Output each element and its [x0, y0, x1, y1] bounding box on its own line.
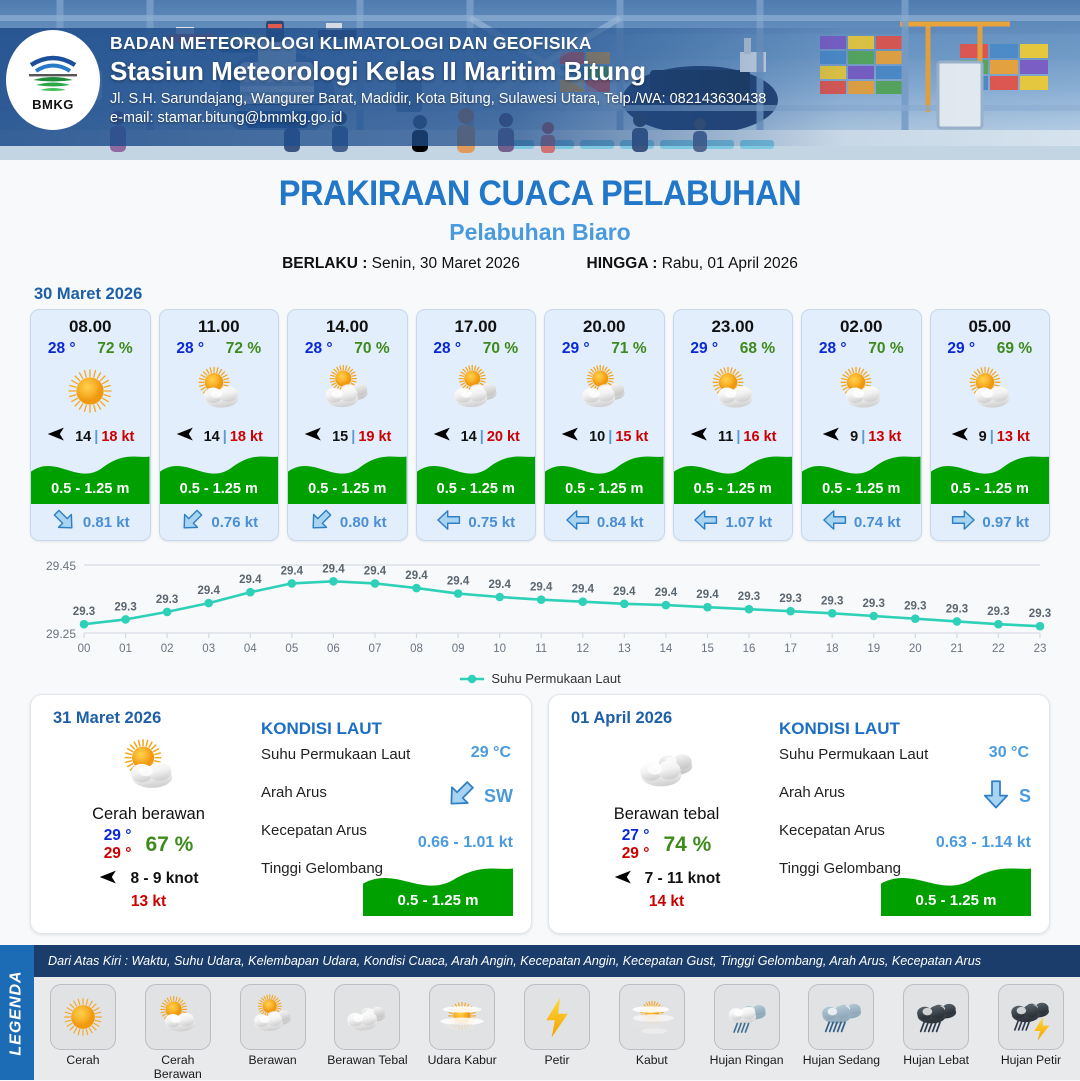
card-temperature: 28 °: [433, 340, 461, 358]
card-current: 0.81 kt: [31, 504, 150, 540]
legend-item: Cerah Berawan: [137, 984, 219, 1080]
panel-condition: Cerah berawan: [41, 805, 256, 824]
current-direction-label: Arah Arus: [261, 784, 327, 801]
panel-gust: 13 kt: [41, 893, 256, 911]
card-temp-humidity: 28 ° 70 %: [417, 337, 536, 358]
card-wind-separator: |: [990, 429, 994, 445]
card-current-speed: 0.74 kt: [854, 514, 901, 531]
svg-text:29.4: 29.4: [239, 574, 262, 586]
panel-humidity: 67 %: [145, 833, 193, 857]
hourly-card: 08.00 28 ° 72 % 14 | 18 kt 0.5 - 1.25: [30, 309, 151, 541]
wind-direction-arrow-icon: [46, 426, 72, 447]
daily-forecast-panels: 31 Maret 2026 Cerah berawan 29 ° 29 ° 6: [0, 686, 1080, 934]
card-gust: 20 kt: [487, 429, 520, 445]
wave-graphic: 0.5 - 1.25 m: [881, 864, 1031, 916]
sea-row-current-speed: Kecepatan Arus 0.63 - 1.14 kt: [779, 820, 1035, 858]
card-temperature: 29 °: [562, 340, 590, 358]
card-weather-berawan-icon: [288, 358, 407, 424]
wind-direction-arrow-icon: [821, 426, 847, 447]
panel-temps: 27 ° 29 ° 74 %: [559, 827, 774, 863]
card-humidity: 70 %: [868, 340, 903, 358]
card-current: 0.97 kt: [931, 504, 1050, 540]
wave-value: 0.5 - 1.25 m: [881, 892, 1031, 909]
svg-text:01: 01: [119, 643, 132, 655]
card-weather-cerah-berawan-icon: [931, 358, 1050, 424]
panel-wind: 8 - 9 knot: [41, 869, 256, 890]
card-current: 0.76 kt: [160, 504, 279, 540]
svg-text:18: 18: [826, 643, 839, 655]
current-direction-arrow-icon: [950, 507, 976, 538]
legend-area: LEGENDA Dari Atas Kiri : Waktu, Suhu Uda…: [0, 945, 1080, 1080]
card-temperature: 29 °: [947, 340, 975, 358]
card-wave: 0.5 - 1.25 m: [417, 450, 536, 504]
legend-note: Dari Atas Kiri : Waktu, Suhu Udara, Kele…: [34, 945, 1080, 977]
sea-row-wave: Tinggi Gelombang 0.5 - 1.25 m: [779, 858, 1035, 896]
panel-summary: Berawan tebal 27 ° 29 ° 74 % 7 - 11 knot…: [559, 737, 774, 911]
card-current: 0.75 kt: [417, 504, 536, 540]
svg-text:09: 09: [452, 643, 465, 655]
page-header: BMKG BADAN METEOROLOGI KLIMATOLOGI DAN G…: [0, 0, 1080, 160]
svg-text:29.4: 29.4: [447, 576, 470, 588]
wind-direction-arrow-icon: [98, 869, 124, 890]
card-time: 23.00: [674, 310, 793, 337]
sst-chart: 29.4529.25000102030405060708091011121314…: [28, 551, 1052, 669]
chart-legend: Suhu Permukaan Laut: [0, 671, 1080, 686]
card-wave: 0.5 - 1.25 m: [288, 450, 407, 504]
card-temp-humidity: 29 ° 69 %: [931, 337, 1050, 358]
card-current: 0.74 kt: [802, 504, 921, 540]
card-gust: 13 kt: [997, 429, 1030, 445]
card-humidity: 72 %: [226, 340, 261, 358]
card-current-speed: 0.97 kt: [982, 514, 1029, 531]
bmkg-logo-text: BMKG: [32, 97, 74, 112]
legend-item: Berawan: [232, 984, 314, 1080]
current-direction-value-group: S: [980, 778, 1031, 815]
card-current-speed: 0.81 kt: [83, 514, 130, 531]
legend-tab-text: LEGENDA: [8, 970, 26, 1055]
legend-items: Cerah Cerah Berawan: [34, 977, 1080, 1080]
card-temp-humidity: 28 ° 70 %: [802, 337, 921, 358]
card-wave: 0.5 - 1.25 m: [931, 450, 1050, 504]
card-wave-height: 0.5 - 1.25 m: [674, 481, 793, 497]
svg-text:13: 13: [618, 643, 631, 655]
legend-tab: LEGENDA: [0, 945, 34, 1080]
title-block: PRAKIRAAN CUACA PELABUHAN Pelabuhan Biar…: [0, 160, 1080, 273]
current-direction-arrow-icon: [51, 507, 77, 538]
svg-text:08: 08: [410, 643, 423, 655]
card-current-speed: 0.76 kt: [211, 514, 258, 531]
wave-graphic: 0.5 - 1.25 m: [363, 864, 513, 916]
svg-text:29.3: 29.3: [987, 606, 1009, 618]
panel-temps: 29 ° 29 ° 67 %: [41, 827, 256, 863]
svg-text:29.3: 29.3: [156, 594, 178, 606]
card-wave-height: 0.5 - 1.25 m: [288, 481, 407, 497]
card-wind: 14 | 18 kt: [31, 424, 150, 450]
card-wave-height: 0.5 - 1.25 m: [31, 481, 150, 497]
card-time: 02.00: [802, 310, 921, 337]
card-gust: 18 kt: [230, 429, 263, 445]
sst-label: Suhu Permukaan Laut: [261, 746, 410, 763]
legend-item-label: Kabut: [611, 1053, 693, 1067]
card-wave: 0.5 - 1.25 m: [31, 450, 150, 504]
panel-sea-conditions: KONDISI LAUT Suhu Permukaan Laut 29 °C A…: [261, 719, 517, 896]
card-temp-humidity: 29 ° 71 %: [545, 337, 664, 358]
card-wave: 0.5 - 1.25 m: [802, 450, 921, 504]
chart-legend-label: Suhu Permukaan Laut: [491, 671, 620, 686]
legend-item: Petir: [516, 984, 598, 1080]
legend-item-label: Hujan Sedang: [800, 1053, 882, 1067]
current-direction-label: Arah Arus: [779, 784, 845, 801]
card-current-speed: 1.07 kt: [725, 514, 772, 531]
current-speed-label: Kecepatan Arus: [261, 822, 367, 839]
current-direction-arrow-icon: [436, 507, 462, 538]
svg-text:29.4: 29.4: [572, 584, 595, 596]
svg-text:29.3: 29.3: [946, 604, 968, 616]
card-wind-speed: 11: [718, 429, 733, 445]
legend-item-label: Petir: [516, 1053, 598, 1067]
card-wave-height: 0.5 - 1.25 m: [931, 481, 1050, 497]
svg-text:29.4: 29.4: [322, 563, 345, 575]
panel-weather-cerah-berawan-icon: [41, 737, 256, 799]
svg-text:17: 17: [784, 643, 797, 655]
legend-berawan-tebal-icon: [334, 984, 400, 1050]
current-direction-arrow-icon: [445, 778, 477, 815]
card-current-speed: 0.84 kt: [597, 514, 644, 531]
svg-text:29.4: 29.4: [613, 586, 636, 598]
svg-text:19: 19: [867, 643, 880, 655]
card-weather-cerah-berawan-icon: [674, 358, 793, 424]
card-humidity: 71 %: [611, 340, 646, 358]
card-wind-separator: |: [736, 429, 740, 445]
card-current: 1.07 kt: [674, 504, 793, 540]
legend-cerah-icon: [50, 984, 116, 1050]
card-wind-separator: |: [351, 429, 355, 445]
panel-humidity: 74 %: [663, 833, 711, 857]
card-current: 0.80 kt: [288, 504, 407, 540]
sea-row-current-direction: Arah Arus SW: [261, 782, 517, 820]
card-weather-cerah-berawan-icon: [160, 358, 279, 424]
current-direction-value-group: SW: [445, 778, 513, 815]
daily-forecast-panel: 01 April 2026 Berawan tebal 27 °: [548, 694, 1050, 934]
panel-wind: 7 - 11 knot: [559, 869, 774, 890]
card-wind: 14 | 20 kt: [417, 424, 536, 450]
svg-text:14: 14: [660, 643, 673, 655]
legend-item: Hujan Sedang: [800, 984, 882, 1080]
svg-text:29.4: 29.4: [198, 585, 221, 597]
valid-until-value: Rabu, 01 April 2026: [662, 255, 798, 272]
legend-cerah-berawan-icon: [145, 984, 211, 1050]
svg-text:23: 23: [1034, 643, 1047, 655]
card-wind-separator: |: [94, 429, 98, 445]
svg-text:29.3: 29.3: [821, 595, 843, 607]
card-wind-speed: 14: [204, 429, 220, 445]
svg-text:00: 00: [78, 643, 91, 655]
card-weather-cerah-icon: [31, 358, 150, 424]
current-speed-label: Kecepatan Arus: [779, 822, 885, 839]
card-time: 05.00: [931, 310, 1050, 337]
card-weather-berawan-icon: [417, 358, 536, 424]
card-temp-humidity: 29 ° 68 %: [674, 337, 793, 358]
sst-chart-svg: 29.4529.25000102030405060708091011121314…: [28, 551, 1052, 669]
sst-value: 30 °C: [989, 744, 1029, 762]
sea-row-sst: Suhu Permukaan Laut 30 °C: [779, 744, 1035, 782]
wind-direction-arrow-icon: [560, 426, 586, 447]
current-direction-value: SW: [484, 786, 513, 807]
current-direction-arrow-icon: [308, 507, 334, 538]
svg-text:29.3: 29.3: [73, 606, 95, 618]
wind-direction-arrow-icon: [950, 426, 976, 447]
card-temp-humidity: 28 ° 70 %: [288, 337, 407, 358]
card-wind: 14 | 18 kt: [160, 424, 279, 450]
hourly-card: 17.00 28 ° 70 % 14 | 2: [416, 309, 537, 541]
current-speed-value: 0.63 - 1.14 kt: [936, 834, 1031, 852]
card-humidity: 70 %: [354, 340, 389, 358]
card-wind-speed: 14: [461, 429, 477, 445]
card-gust: 13 kt: [868, 429, 901, 445]
hourly-date-label: 30 Maret 2026: [34, 285, 1080, 304]
current-direction-arrow-icon: [980, 778, 1012, 815]
wind-direction-arrow-icon: [303, 426, 329, 447]
card-wave-height: 0.5 - 1.25 m: [802, 481, 921, 497]
card-current-speed: 0.75 kt: [468, 514, 515, 531]
legend-item: Kabut: [611, 984, 693, 1080]
svg-text:06: 06: [327, 643, 340, 655]
card-wind: 9 | 13 kt: [802, 424, 921, 450]
svg-text:15: 15: [701, 643, 714, 655]
card-temperature: 28 °: [305, 340, 333, 358]
port-name: Pelabuhan Biaro: [0, 219, 1080, 246]
svg-text:22: 22: [992, 643, 1005, 655]
current-direction-value: S: [1019, 786, 1031, 807]
svg-text:29.3: 29.3: [114, 602, 136, 614]
hourly-card: 20.00 29 ° 71 % 10 | 1: [544, 309, 665, 541]
legend-item-label: Cerah: [42, 1053, 124, 1067]
svg-text:10: 10: [493, 643, 506, 655]
card-weather-berawan-icon: [545, 358, 664, 424]
card-wind: 10 | 15 kt: [545, 424, 664, 450]
panel-sea-conditions: KONDISI LAUT Suhu Permukaan Laut 30 °C A…: [779, 719, 1035, 896]
svg-text:12: 12: [576, 643, 589, 655]
legend-item: Hujan Ringan: [706, 984, 788, 1080]
card-humidity: 69 %: [997, 340, 1032, 358]
legend-item: Berawan Tebal: [326, 984, 408, 1080]
svg-text:29.4: 29.4: [489, 579, 512, 591]
card-wind-separator: |: [480, 429, 484, 445]
card-time: 20.00: [545, 310, 664, 337]
current-direction-arrow-icon: [179, 507, 205, 538]
svg-text:29.4: 29.4: [530, 582, 553, 594]
svg-text:29.45: 29.45: [46, 559, 76, 573]
card-wave: 0.5 - 1.25 m: [160, 450, 279, 504]
card-gust: 16 kt: [743, 429, 776, 445]
agency-name: BADAN METEOROLOGI KLIMATOLOGI DAN GEOFIS…: [110, 33, 766, 54]
panel-date: 31 Maret 2026: [53, 709, 161, 728]
card-temp-humidity: 28 ° 72 %: [160, 337, 279, 358]
valid-from-value: Senin, 30 Maret 2026: [372, 255, 520, 272]
hourly-card: 11.00 28 ° 72 % 14 | 18 kt: [159, 309, 280, 541]
legend-item-label: Cerah Berawan: [137, 1053, 219, 1081]
station-email: e-mail: stamar.bitung@bmmkg.go.id: [110, 110, 766, 126]
panel-summary: Cerah berawan 29 ° 29 ° 67 % 8 - 9 knot …: [41, 737, 256, 911]
legend-item-label: Berawan Tebal: [326, 1053, 408, 1067]
hourly-card: 23.00 29 ° 68 % 11 | 16 kt: [673, 309, 794, 541]
legend-berawan-icon: [240, 984, 306, 1050]
current-speed-value: 0.66 - 1.01 kt: [418, 834, 513, 852]
svg-text:02: 02: [161, 643, 174, 655]
card-humidity: 68 %: [740, 340, 775, 358]
legend-hujan-ringan-icon: [714, 984, 780, 1050]
card-wave: 0.5 - 1.25 m: [545, 450, 664, 504]
svg-text:16: 16: [743, 643, 756, 655]
legend-item-label: Berawan: [232, 1053, 314, 1067]
panel-temp-min: 29 °: [104, 827, 132, 845]
card-wave-height: 0.5 - 1.25 m: [545, 481, 664, 497]
sst-label: Suhu Permukaan Laut: [779, 746, 928, 763]
svg-text:29.4: 29.4: [405, 570, 428, 582]
panel-temp-range: 29 ° 29 °: [104, 827, 132, 863]
current-direction-arrow-icon: [693, 507, 719, 538]
legend-item: Hujan Petir: [990, 984, 1072, 1080]
card-current: 0.84 kt: [545, 504, 664, 540]
svg-text:29.4: 29.4: [696, 589, 719, 601]
legend-udara-kabur-icon: [429, 984, 495, 1050]
card-humidity: 72 %: [97, 340, 132, 358]
sea-section-title: KONDISI LAUT: [261, 719, 517, 739]
card-wind: 15 | 19 kt: [288, 424, 407, 450]
card-wave-height: 0.5 - 1.25 m: [417, 481, 536, 497]
card-wind: 9 | 13 kt: [931, 424, 1050, 450]
panel-temp-range: 27 ° 29 °: [622, 827, 650, 863]
daily-forecast-panel: 31 Maret 2026 Cerah berawan 29 ° 29 ° 6: [30, 694, 532, 934]
svg-text:29.25: 29.25: [46, 627, 76, 641]
legend-kabut-icon: [619, 984, 685, 1050]
svg-text:29.3: 29.3: [863, 598, 885, 610]
card-temp-humidity: 28 ° 72 %: [31, 337, 150, 358]
wind-direction-arrow-icon: [689, 426, 715, 447]
svg-text:03: 03: [202, 643, 215, 655]
svg-text:29.4: 29.4: [655, 587, 678, 599]
card-wave: 0.5 - 1.25 m: [674, 450, 793, 504]
sst-value: 29 °C: [471, 744, 511, 762]
legend-item-label: Hujan Ringan: [706, 1053, 788, 1067]
card-wind-separator: |: [223, 429, 227, 445]
panel-wind-speed: 7 - 11 knot: [645, 870, 721, 888]
panel-date: 01 April 2026: [571, 709, 672, 728]
svg-text:11: 11: [535, 643, 547, 655]
panel-temp-max: 29 °: [622, 845, 650, 863]
validity-dates: BERLAKU : Senin, 30 Maret 2026 HINGGA : …: [0, 255, 1080, 273]
station-address: Jl. S.H. Sarundajang, Wangurer Barat, Ma…: [110, 91, 766, 107]
wind-direction-arrow-icon: [175, 426, 201, 447]
legend-item: Cerah: [42, 984, 124, 1080]
card-wind-speed: 10: [589, 429, 605, 445]
bmkg-logo-mark: [23, 49, 83, 95]
card-gust: 15 kt: [615, 429, 648, 445]
panel-temp-min: 27 °: [622, 827, 650, 845]
hourly-forecast-row: 08.00 28 ° 72 % 14 | 18 kt 0.5 - 1.25: [0, 309, 1080, 541]
card-time: 08.00: [31, 310, 150, 337]
card-current-speed: 0.80 kt: [340, 514, 387, 531]
svg-text:20: 20: [909, 643, 922, 655]
svg-text:29.4: 29.4: [364, 566, 387, 578]
current-direction-arrow-icon: [822, 507, 848, 538]
card-temperature: 28 °: [48, 340, 76, 358]
panel-temp-max: 29 °: [104, 845, 132, 863]
card-time: 11.00: [160, 310, 279, 337]
legend-hujan-petir-icon: [998, 984, 1064, 1050]
legend-item: Udara Kabur: [421, 984, 503, 1080]
legend-item-label: Udara Kabur: [421, 1053, 503, 1067]
card-wind-speed: 14: [75, 429, 91, 445]
sea-row-sst: Suhu Permukaan Laut 29 °C: [261, 744, 517, 782]
legend-item: Hujan Lebat: [895, 984, 977, 1080]
panel-gust: 14 kt: [559, 893, 774, 911]
card-gust: 18 kt: [101, 429, 134, 445]
hourly-card: 02.00 28 ° 70 % 9 | 13 kt: [801, 309, 922, 541]
svg-text:29.3: 29.3: [738, 591, 760, 603]
card-time: 17.00: [417, 310, 536, 337]
svg-text:29.3: 29.3: [1029, 608, 1051, 620]
card-wind-separator: |: [861, 429, 865, 445]
svg-text:29.3: 29.3: [779, 593, 801, 605]
card-time: 14.00: [288, 310, 407, 337]
sea-row-current-speed: Kecepatan Arus 0.66 - 1.01 kt: [261, 820, 517, 858]
wave-value: 0.5 - 1.25 m: [363, 892, 513, 909]
card-wind-speed: 15: [332, 429, 348, 445]
card-wind-speed: 9: [850, 429, 858, 445]
card-gust: 19 kt: [358, 429, 391, 445]
valid-from-label: BERLAKU :: [282, 255, 367, 272]
hourly-card: 14.00 28 ° 70 % 15 | 1: [287, 309, 408, 541]
sea-row-current-direction: Arah Arus S: [779, 782, 1035, 820]
wind-direction-arrow-icon: [613, 869, 639, 890]
card-wind-speed: 9: [979, 429, 987, 445]
header-text-block: BADAN METEOROLOGI KLIMATOLOGI DAN GEOFIS…: [110, 33, 766, 126]
wind-direction-arrow-icon: [432, 426, 458, 447]
legend-item-label: Hujan Petir: [990, 1053, 1072, 1067]
legend-hujan-lebat-icon: [903, 984, 969, 1050]
legend-item-label: Hujan Lebat: [895, 1053, 977, 1067]
svg-text:07: 07: [369, 643, 382, 655]
card-humidity: 70 %: [483, 340, 518, 358]
sea-section-title: KONDISI LAUT: [779, 719, 1035, 739]
hourly-card: 05.00 29 ° 69 % 9 | 13 kt: [930, 309, 1051, 541]
svg-text:05: 05: [285, 643, 298, 655]
card-wind-separator: |: [608, 429, 612, 445]
panel-condition: Berawan tebal: [559, 805, 774, 824]
panel-wind-speed: 8 - 9 knot: [130, 870, 198, 888]
svg-text:21: 21: [950, 643, 963, 655]
chart-legend-marker: [459, 673, 485, 685]
legend-petir-icon: [524, 984, 590, 1050]
bmkg-logo: BMKG: [6, 30, 100, 130]
card-temperature: 29 °: [690, 340, 718, 358]
card-weather-cerah-berawan-icon: [802, 358, 921, 424]
card-wave-height: 0.5 - 1.25 m: [160, 481, 279, 497]
card-temperature: 28 °: [176, 340, 204, 358]
legend-hujan-sedang-icon: [808, 984, 874, 1050]
page-title: PRAKIRAAN CUACA PELABUHAN: [38, 174, 1042, 214]
card-wind: 11 | 16 kt: [674, 424, 793, 450]
card-temperature: 28 °: [819, 340, 847, 358]
sea-row-wave: Tinggi Gelombang 0.5 - 1.25 m: [261, 858, 517, 896]
svg-text:29.3: 29.3: [904, 601, 926, 613]
station-name: Stasiun Meteorologi Kelas II Maritim Bit…: [110, 56, 766, 87]
svg-text:04: 04: [244, 643, 257, 655]
svg-text:29.4: 29.4: [281, 566, 304, 578]
valid-until-label: HINGGA :: [587, 255, 658, 272]
panel-weather-berawan-tebal-icon: [559, 737, 774, 799]
